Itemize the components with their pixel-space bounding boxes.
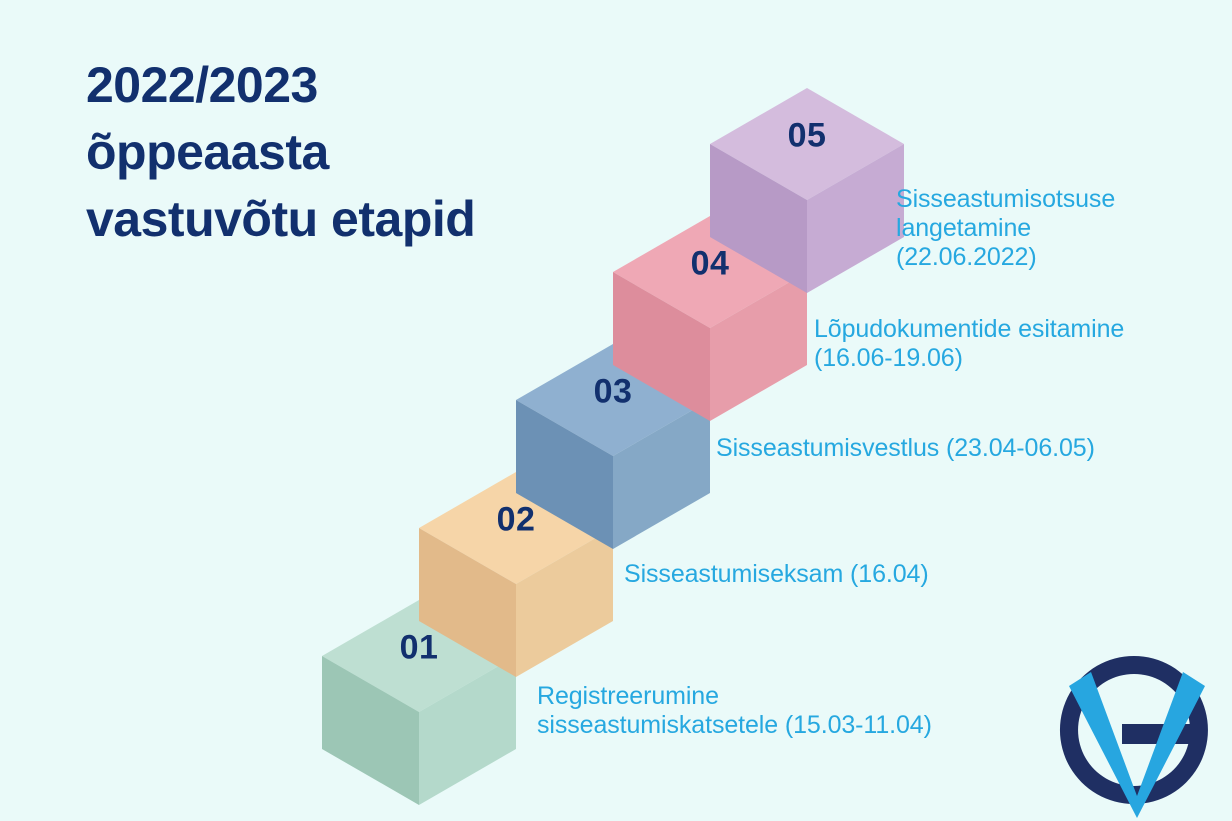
- step-label-05: Sisseastumisotsuse langetamine (22.06.20…: [896, 185, 1115, 272]
- step-label-04: Lõpudokumentide esitamine (16.06-19.06): [814, 315, 1124, 373]
- step-label-03: Sisseastumisvestlus (23.04-06.05): [716, 434, 1095, 463]
- step-label-02: Sisseastumiseksam (16.04): [624, 560, 929, 589]
- logo-v-mark: [1069, 672, 1205, 818]
- gv-logo: [1052, 652, 1222, 818]
- step-label-01: Registreerumine sisseastumiskatsetele (1…: [537, 682, 932, 740]
- infographic-canvas: 2022/2023 õppeaasta vastuvõtu etapid: [0, 0, 1232, 821]
